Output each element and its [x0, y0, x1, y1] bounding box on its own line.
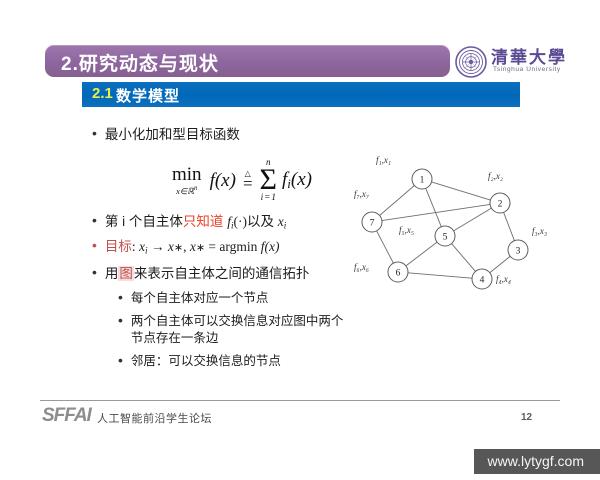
bullet-text: 第 i 个自主体只知道 fi(·)以及 xi [105, 213, 286, 234]
bullet-text: 两个自主体可以交换信息对应图中两个节点存在一条边 [131, 313, 348, 347]
bullet-item: • 目标: xi → x∗, x∗ = argmin f(x) [92, 238, 280, 259]
graph-node-tag: f₃,x₃ [532, 226, 547, 236]
tsinghua-seal-icon [455, 46, 487, 78]
sffai-subtitle: 人工智能前沿学生论坛 [97, 410, 212, 426]
graph-edge [490, 256, 510, 272]
bullet-marker: • [92, 238, 97, 252]
graph-node-tag: f₆,x₆ [354, 262, 369, 272]
graph-edge [432, 182, 491, 200]
graph-node-label: 6 [396, 268, 401, 278]
sigma-icon: Σ [260, 167, 277, 193]
objective-fx: f(x) [210, 170, 236, 192]
section-banner: 2.研究动态与现状 [45, 45, 450, 77]
page-number: 12 [521, 412, 532, 423]
sum-lower-limit: i = 1 [261, 194, 276, 204]
graph-node-label: 1 [420, 175, 425, 185]
bullet-text: 最小化加和型目标函数 [105, 126, 240, 143]
bullet-text: 每个自主体对应一个节点 [131, 290, 269, 307]
logo-chinese-name: 清華大學 [491, 43, 567, 68]
graph-node-tag: f₁,x₁ [376, 155, 391, 165]
bullet-marker: • [92, 126, 97, 140]
graph-node-tag: f₇,x₇ [354, 189, 369, 199]
slide-canvas: 2.研究动态与现状 清華大學 Tsinghua University 2.1 数… [0, 0, 600, 438]
bullet-marker: • [92, 213, 97, 227]
min-operator: min [172, 165, 202, 184]
bullet-marker: • [118, 353, 123, 367]
min-subscript: x∈ℝn [176, 186, 197, 195]
graph-node-label: 4 [480, 275, 485, 285]
graph-node-label: 2 [498, 199, 503, 209]
summation-group: n Σ i = 1 [260, 158, 277, 203]
graph-edge [504, 212, 515, 240]
bullet-item: • 最小化加和型目标函数 [92, 126, 240, 143]
bullet-text: 用图来表示自主体之间的通信拓扑 [105, 265, 310, 282]
graph-node-tag: f₄,x₄ [496, 274, 511, 284]
triangleq-symbol: △ = [243, 170, 253, 192]
graph-edge [454, 208, 492, 231]
graph-edge [382, 204, 490, 220]
graph-edge [408, 273, 472, 278]
subsection-number: 2.1 [92, 85, 113, 102]
graph-node-label: 3 [516, 246, 521, 256]
graph-node-tag: f₅,x₅ [399, 225, 414, 235]
bullet-marker: • [118, 290, 123, 304]
highlight-text: 只知道 [183, 214, 224, 229]
section-banner-label: 2.研究动态与现状 [61, 49, 219, 76]
highlight-text: 目标 [105, 239, 132, 254]
bullet-marker: • [92, 265, 97, 279]
graph-node-label: 7 [370, 218, 375, 228]
tsinghua-logo: 清華大學 Tsinghua University [455, 44, 595, 80]
graph-edge [426, 188, 442, 226]
graph-svg: 1f₁,x₁2f₂,x₂3f₃,x₃4f₄,x₄5f₅,x₅6f₆,x₆7f₇,… [352, 152, 600, 298]
graph-node-tag: f₂,x₂ [488, 171, 503, 181]
bullet-item: • 两个自主体可以交换信息对应图中两个节点存在一条边 [118, 313, 348, 347]
bullet-item: • 每个自主体对应一个节点 [118, 290, 268, 307]
subsection-bar: 2.1 数学模型 [82, 82, 520, 107]
graph-node-label: 5 [443, 232, 448, 242]
graph-edge [377, 231, 394, 263]
bullet-text: 邻居：可以交换信息的节点 [131, 353, 281, 370]
bullet-marker: • [118, 313, 123, 327]
bullet-item: • 邻居：可以交换信息的节点 [118, 353, 281, 370]
sffai-logo: SFFAI [42, 405, 91, 427]
subsection-title: 数学模型 [116, 85, 180, 106]
site-watermark: www.lytygf.com [474, 449, 600, 474]
sum-term: fi(x) [282, 169, 312, 192]
bullet-item: • 用图来表示自主体之间的通信拓扑 [92, 265, 309, 282]
bullet-text: 目标: xi → x∗, x∗ = argmin f(x) [105, 238, 280, 259]
communication-topology-graph: 1f₁,x₁2f₂,x₂3f₃,x₃4f₄,x₄5f₅,x₅6f₆,x₆7f₇,… [352, 152, 600, 298]
min-operator-group: min x∈ℝn [172, 165, 202, 195]
graph-edge [380, 186, 415, 216]
footer-divider [40, 400, 560, 401]
objective-formula: min x∈ℝn f(x) △ = n Σ i = 1 fi(x) [172, 158, 312, 203]
graph-edge [406, 242, 437, 266]
logo-english-name: Tsinghua University [493, 66, 561, 73]
bullet-item: • 第 i 个自主体只知道 fi(·)以及 xi [92, 213, 286, 234]
highlight-text: 图 [118, 266, 134, 281]
graph-edge [452, 244, 476, 272]
